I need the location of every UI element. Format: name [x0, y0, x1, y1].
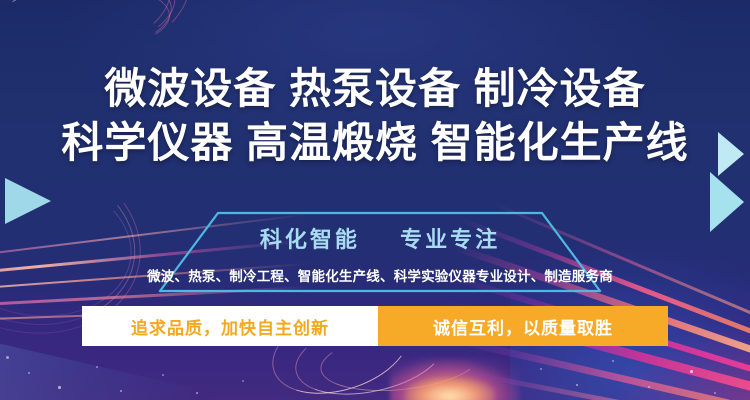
promo-banner: 微波设备 热泵设备 制冷设备 科学仪器 高温煅烧 智能化生产线 科化智能 专业专…	[0, 0, 750, 400]
slogan-integrity[interactable]: 诚信互利，以质量取胜	[378, 306, 668, 346]
headline: 微波设备 热泵设备 制冷设备 科学仪器 高温煅烧 智能化生产线	[0, 62, 750, 170]
arrow-right-icon	[710, 172, 744, 232]
slogan-quality[interactable]: 追求品质，加快自主创新	[82, 306, 378, 346]
headline-line-2: 科学仪器 高温煅烧 智能化生产线	[0, 116, 750, 170]
subtitle-slogan: 科化智能 专业专注	[160, 222, 600, 254]
headline-line-1: 微波设备 热泵设备 制冷设备	[0, 62, 750, 116]
subtitle-slogan-right: 专业专注	[400, 227, 500, 252]
subtitle-slogan-left: 科化智能	[260, 227, 360, 252]
subtitle-fine-print: 微波、热泵、制冷工程、智能化生产线、科学实验仪器专业设计、制造服务商	[100, 265, 660, 285]
arrow-left-icon	[5, 178, 51, 224]
slogan-bar: 追求品质，加快自主创新 诚信互利，以质量取胜	[82, 306, 668, 346]
